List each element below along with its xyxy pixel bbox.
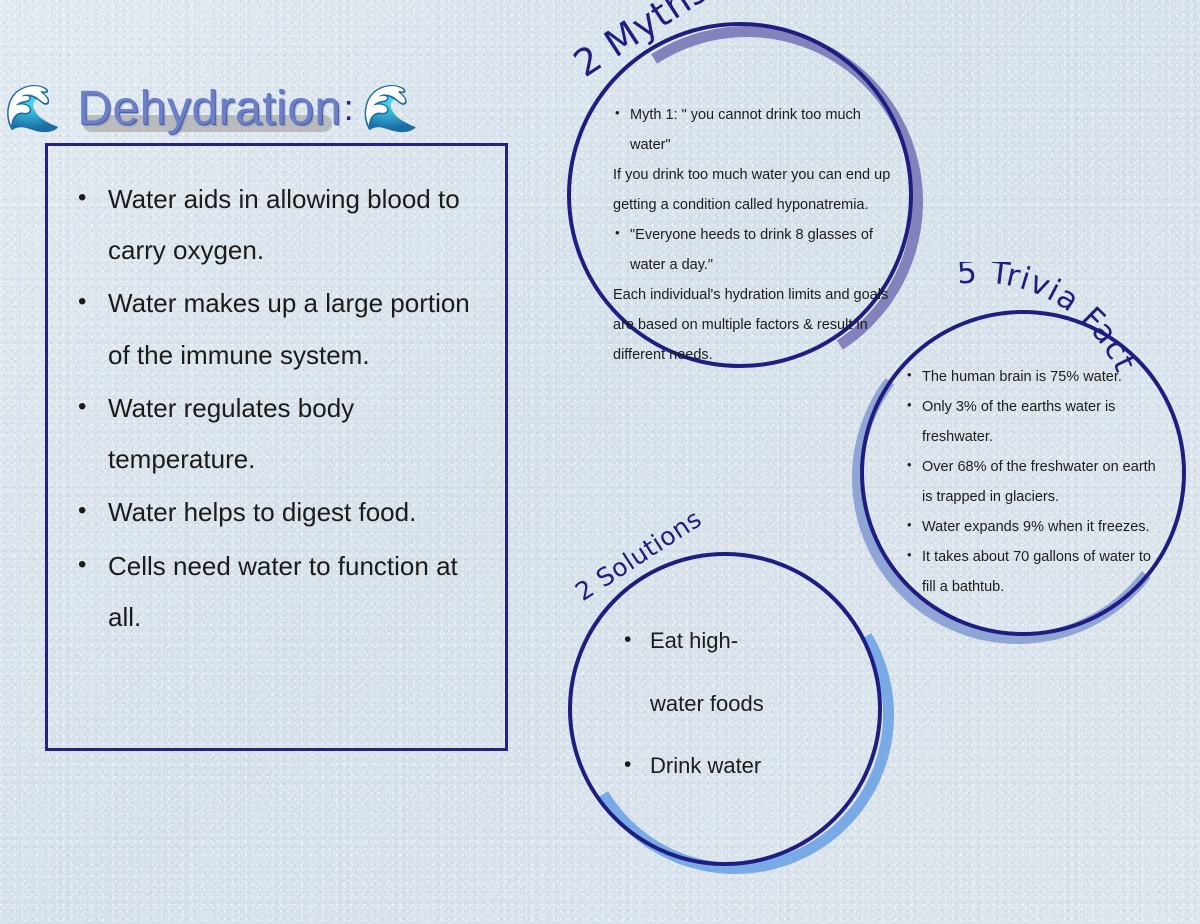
myths-paragraph-line: getting a condition called hyponatremia. xyxy=(613,190,913,220)
list-item-cont: fill a bathtub. xyxy=(905,572,1171,602)
list-item: Water expands 9% when it freezes. xyxy=(905,512,1171,542)
wave-icon-left: 🌊 xyxy=(4,85,61,131)
trivia-content: The human brain is 75% water. Only 3% of… xyxy=(905,362,1171,602)
wave-icon-right: 🌊 xyxy=(362,85,419,131)
title-colon: : xyxy=(344,87,354,129)
facts-list: Water aids in allowing blood to carry ox… xyxy=(74,174,483,643)
page-title-wrap: Dehydration xyxy=(77,81,341,136)
list-item: Water helps to digest food. xyxy=(74,487,483,538)
list-item: Drink water xyxy=(622,735,852,798)
list-item: Water makes up a large portion of the im… xyxy=(74,278,483,380)
list-item: It takes about 70 gallons of water to xyxy=(905,542,1171,572)
list-item: Eat high- xyxy=(622,610,852,673)
list-item-cont: is trapped in glaciers. xyxy=(905,482,1171,512)
list-item: Cells need water to function at all. xyxy=(74,541,483,643)
list-item: Over 68% of the freshwater on earth xyxy=(905,452,1171,482)
page-title: Dehydration xyxy=(77,82,341,135)
myths-paragraph-line: If you drink too much water you can end … xyxy=(613,160,913,190)
list-item-cont: water" xyxy=(613,130,913,160)
list-item-cont: water foods xyxy=(622,673,852,736)
list-item: Water regulates body temperature. xyxy=(74,383,483,485)
myths-paragraph-line: are based on multiple factors & result i… xyxy=(613,310,913,340)
list-item-cont: water a day." xyxy=(613,250,913,280)
list-item: Water aids in allowing blood to carry ox… xyxy=(74,174,483,276)
myths-paragraph-line: different needs. xyxy=(613,340,913,370)
page-title-row: 🌊 Dehydration : 🌊 xyxy=(0,72,520,144)
myths-paragraph-line: Each individual's hydration limits and g… xyxy=(613,280,913,310)
poster-canvas: 🌊 Dehydration : 🌊 Water aids in allowing… xyxy=(0,0,1200,924)
facts-box: Water aids in allowing blood to carry ox… xyxy=(45,143,508,751)
list-item: Only 3% of the earths water is xyxy=(905,392,1171,422)
list-item: The human brain is 75% water. xyxy=(905,362,1171,392)
solutions-content: Eat high- water foods Drink water xyxy=(622,610,852,798)
list-item-cont: freshwater. xyxy=(905,422,1171,452)
list-item: Myth 1: " you cannot drink too much xyxy=(613,100,913,130)
myths-content: Myth 1: " you cannot drink too much wate… xyxy=(613,100,913,370)
list-item: "Everyone heeds to drink 8 glasses of xyxy=(613,220,913,250)
